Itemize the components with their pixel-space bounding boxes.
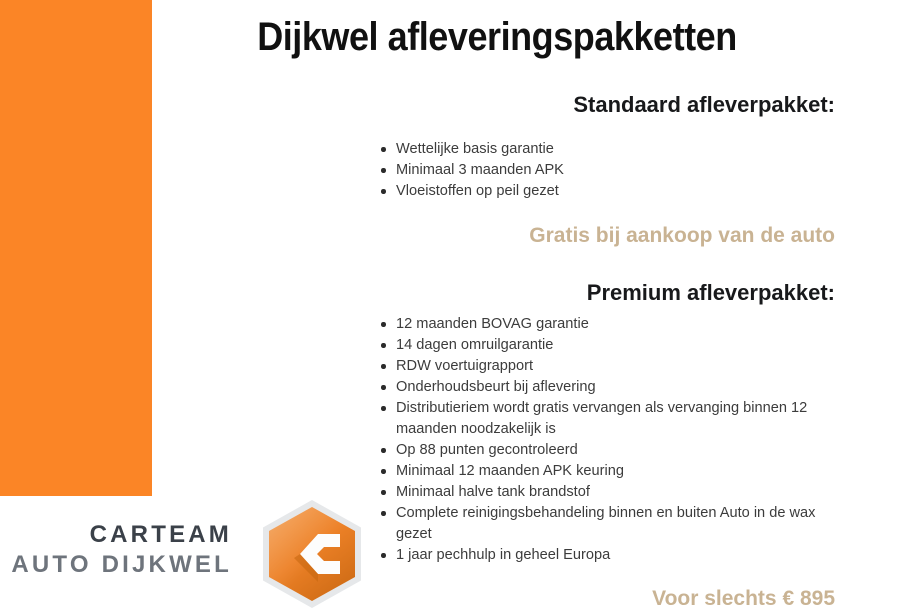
bullet-dot-icon [381,553,386,558]
bullet-dot-icon [381,168,386,173]
list-item-label: Minimaal halve tank brandstof [396,484,590,500]
list-item: Minimaal 12 maanden APK keuring [381,461,851,482]
standaard-package-footer-note: Gratis bij aankoop van de auto [529,223,835,248]
list-item-label: 14 dagen omruilgarantie [396,337,553,353]
carteam-hexagon-c-logo-icon [256,498,368,608]
list-item: 14 dagen omruilgarantie [381,335,851,356]
list-item: Wettelijke basis garantie [381,139,851,160]
list-item: Minimaal 3 maanden APK [381,160,851,181]
list-item-label: 1 jaar pechhulp in geheel Europa [396,547,610,563]
list-item-label: Wettelijke basis garantie [396,141,554,157]
brand-name-auto-dijkwel: AUTO DIJKWEL [0,550,232,580]
list-item-label: RDW voertuigrapport [396,358,533,374]
bullet-dot-icon [381,490,386,495]
list-item-label: Complete reinigingsbehandeling binnen en… [396,505,815,542]
brand-name-carteam: CARTEAM [0,520,232,550]
standaard-package-list: Wettelijke basis garantie Minimaal 3 maa… [381,139,851,202]
list-item: Op 88 punten gecontroleerd [381,440,851,461]
list-item: Onderhoudsbeurt bij aflevering [381,377,851,398]
bullet-dot-icon [381,343,386,348]
list-item-label: Distributieriem wordt gratis vervangen a… [396,400,807,437]
list-item: Distributieriem wordt gratis vervangen a… [381,398,851,440]
list-item: Minimaal halve tank brandstof [381,482,851,503]
list-item-label: Minimaal 12 maanden APK keuring [396,463,624,479]
orange-accent-panel [0,0,152,496]
standaard-package-heading: Standaard afleverpakket: [573,92,835,118]
bullet-dot-icon [381,147,386,152]
bullet-dot-icon [381,189,386,194]
bullet-dot-icon [381,364,386,369]
list-item: 12 maanden BOVAG garantie [381,314,851,335]
list-item-label: 12 maanden BOVAG garantie [396,316,589,332]
page-title: Dijkwel afleveringspakketten [187,12,808,62]
list-item-label: Onderhoudsbeurt bij aflevering [396,379,596,395]
bullet-dot-icon [381,385,386,390]
bullet-dot-icon [381,406,386,411]
premium-package-list: 12 maanden BOVAG garantie 14 dagen omrui… [381,314,851,566]
premium-package-price-note: Voor slechts € 895 [652,586,835,611]
list-item-label: Minimaal 3 maanden APK [396,162,564,178]
bullet-dot-icon [381,511,386,516]
list-item: Vloeistoffen op peil gezet [381,181,851,202]
brand-wordmark: CARTEAM AUTO DIJKWEL [0,520,232,580]
list-item-label: Op 88 punten gecontroleerd [396,442,578,458]
list-item: Complete reinigingsbehandeling binnen en… [381,503,851,545]
bullet-dot-icon [381,469,386,474]
list-item: 1 jaar pechhulp in geheel Europa [381,545,851,566]
premium-package-heading: Premium afleverpakket: [587,280,835,306]
list-item: RDW voertuigrapport [381,356,851,377]
bullet-dot-icon [381,322,386,327]
bullet-dot-icon [381,448,386,453]
list-item-label: Vloeistoffen op peil gezet [396,183,559,199]
